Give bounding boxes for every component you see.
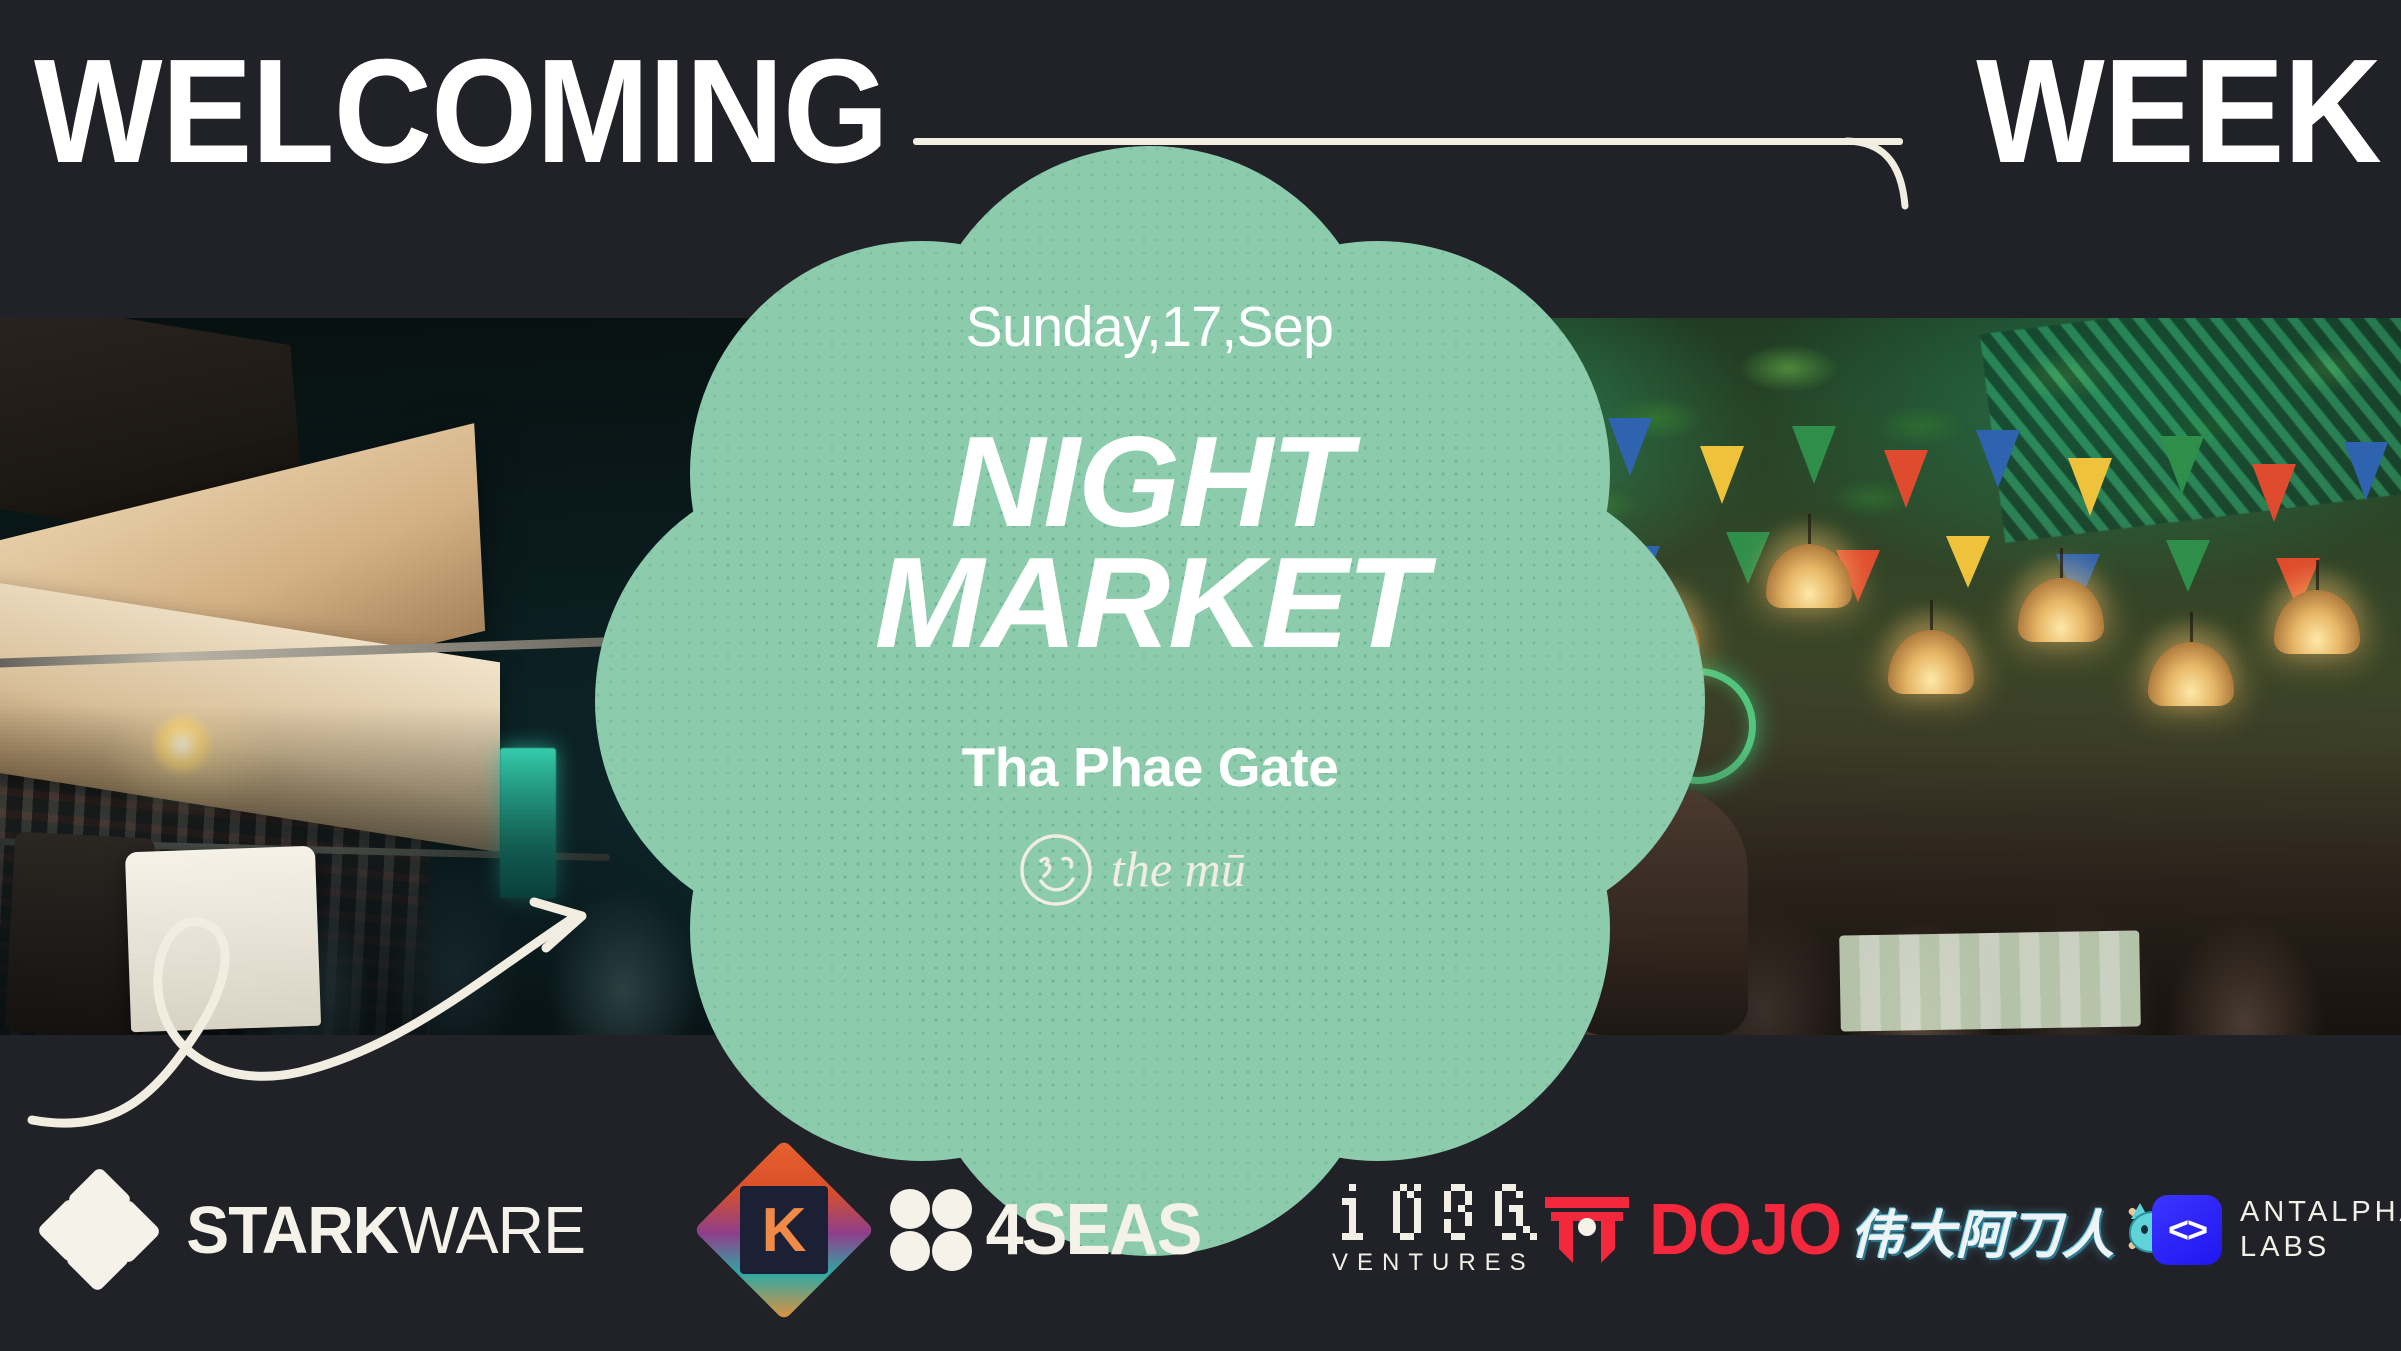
- themu-wordmark: the mū: [1111, 834, 1283, 906]
- k-logo-letter: K: [740, 1186, 828, 1274]
- event-title-line2: MARKET: [875, 543, 1426, 664]
- torii-gate-icon: [1545, 1197, 1629, 1263]
- arrow-right-icon: [1845, 136, 1917, 210]
- event-title: NIGHT MARKET: [875, 422, 1426, 665]
- four-petal-icon: [890, 1189, 972, 1271]
- sponsor-starkware[interactable]: STARKWARE: [46, 1176, 593, 1284]
- sponsor-weida-adao[interactable]: 伟大阿刀人: [1850, 1193, 2185, 1268]
- antalpha-name-line2: LABS: [2240, 1230, 2401, 1265]
- k-diamond-icon: K: [720, 1166, 848, 1294]
- 4seas-wordmark: 4SEAS: [986, 1189, 1201, 1271]
- weida-adao-wordmark: 伟大阿刀人: [1850, 1193, 2115, 1268]
- header-rule: [913, 138, 1903, 145]
- sponsor-logos: STARKWARE K 4SEAS: [0, 1145, 2401, 1315]
- themu-wordmark-text: the mū: [1111, 841, 1246, 897]
- pixel-digits-icon: [1335, 1184, 1532, 1240]
- code-bracket-icon: <>: [2152, 1195, 2222, 1265]
- dojo-wordmark: DOJO: [1649, 1189, 1841, 1271]
- flower-badge: Sunday,17,Sep NIGHT MARKET Tha Phae Gate…: [595, 146, 1705, 1256]
- starkware-wordmark: STARKWARE: [186, 1192, 585, 1269]
- event-venue: Tha Phae Gate: [962, 735, 1339, 799]
- sponsor-k-logo[interactable]: K: [720, 1166, 848, 1294]
- themu-logo: the mū: [1017, 831, 1283, 909]
- antalpha-wordmark: ANTALPHA LABS: [2240, 1195, 2401, 1266]
- event-date: Sunday,17,Sep: [966, 294, 1334, 360]
- header-word-right: WEEK: [1976, 38, 2381, 186]
- starkware-name-bold: STARK: [186, 1193, 398, 1268]
- starkware-diamond-icon: [46, 1176, 154, 1284]
- sponsor-1000-ventures[interactable]: VENTURES: [1332, 1184, 1535, 1277]
- antalpha-name-line1: ANTALPHA: [2240, 1195, 2401, 1230]
- sponsor-dojo[interactable]: DOJO: [1545, 1189, 1845, 1271]
- starkware-name-light: WARE: [398, 1193, 585, 1268]
- sponsor-4seas[interactable]: 4SEAS: [890, 1189, 1206, 1271]
- looping-swirl-arrow-icon: [10, 820, 660, 1140]
- event-title-line1: NIGHT: [875, 422, 1426, 543]
- sponsor-antalpha-labs[interactable]: <> ANTALPHA LABS: [2152, 1195, 2401, 1266]
- winking-smiley-icon: [1017, 831, 1095, 909]
- event-poster: Comfy Guesthouse W: [0, 0, 2401, 1351]
- ventures-subtitle: VENTURES: [1332, 1249, 1535, 1277]
